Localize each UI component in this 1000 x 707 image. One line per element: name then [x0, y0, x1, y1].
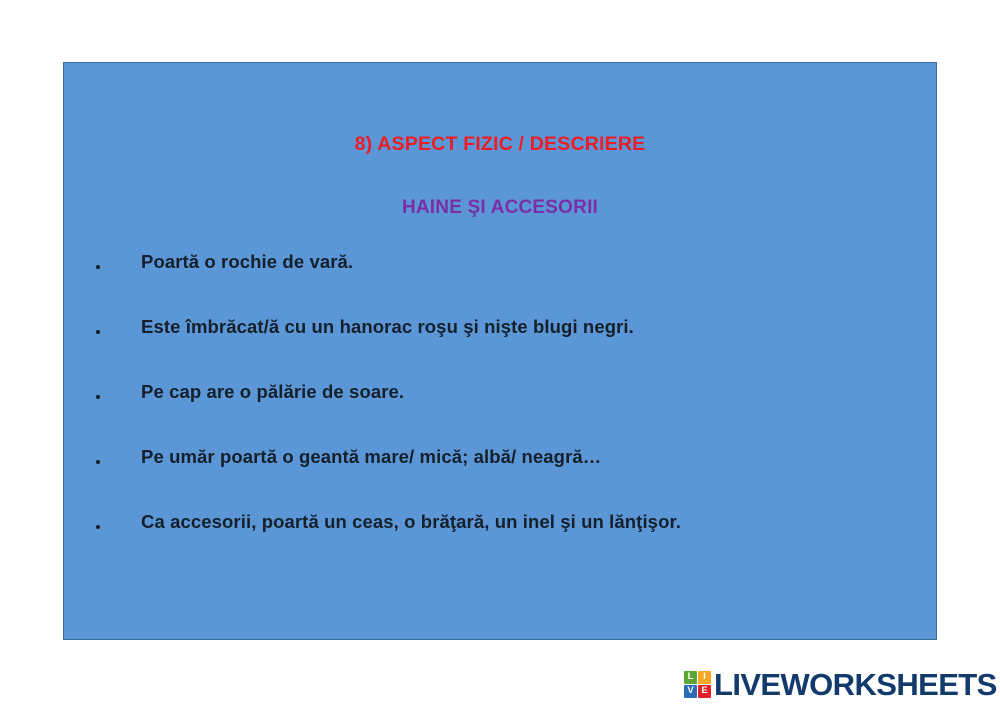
list-item-label: Ca accesorii, poartă un ceas, o brăţară,…: [141, 511, 681, 533]
list-item-label: Pe cap are o pălărie de soare.: [141, 381, 404, 403]
list-item: Ca accesorii, poartă un ceas, o brăţară,…: [86, 511, 916, 576]
list-item: Este îmbrăcat/ă cu un hanorac roşu şi ni…: [86, 316, 916, 381]
bullet-dot-icon: [96, 460, 100, 464]
bullet-dot-icon: [96, 330, 100, 334]
worksheet-page: 8) ASPECT FIZIC / DESCRIERE HAINE ŞI ACC…: [0, 0, 1000, 707]
page-title: 8) ASPECT FIZIC / DESCRIERE: [64, 133, 936, 156]
slide-content-panel: 8) ASPECT FIZIC / DESCRIERE HAINE ŞI ACC…: [63, 62, 937, 640]
liveworksheets-mark-icon: L I V E: [684, 671, 711, 698]
list-item-label: Este îmbrăcat/ă cu un hanorac roşu şi ni…: [141, 316, 634, 338]
list-item: Poartă o rochie de vară.: [86, 251, 916, 316]
logo-cell-l: L: [684, 671, 697, 684]
list-item-label: Poartă o rochie de vară.: [141, 251, 353, 273]
logo-cell-e: E: [698, 685, 711, 698]
logo-wordmark: LIVEWORKSHEETS: [714, 669, 997, 700]
list-item: Pe cap are o pălărie de soare.: [86, 381, 916, 446]
bullet-dot-icon: [96, 395, 100, 399]
liveworksheets-logo[interactable]: L I V E LIVEWORKSHEETS: [684, 664, 997, 704]
logo-cell-v: V: [684, 685, 697, 698]
list-item-label: Pe umăr poartă o geantă mare/ mică; albă…: [141, 446, 601, 468]
bullet-dot-icon: [96, 265, 100, 269]
bullet-list: Poartă o rochie de vară. Este îmbrăcat/ă…: [86, 251, 916, 576]
list-item: Pe umăr poartă o geantă mare/ mică; albă…: [86, 446, 916, 511]
logo-cell-i: I: [698, 671, 711, 684]
page-subtitle: HAINE ŞI ACCESORII: [64, 197, 936, 219]
bullet-dot-icon: [96, 525, 100, 529]
